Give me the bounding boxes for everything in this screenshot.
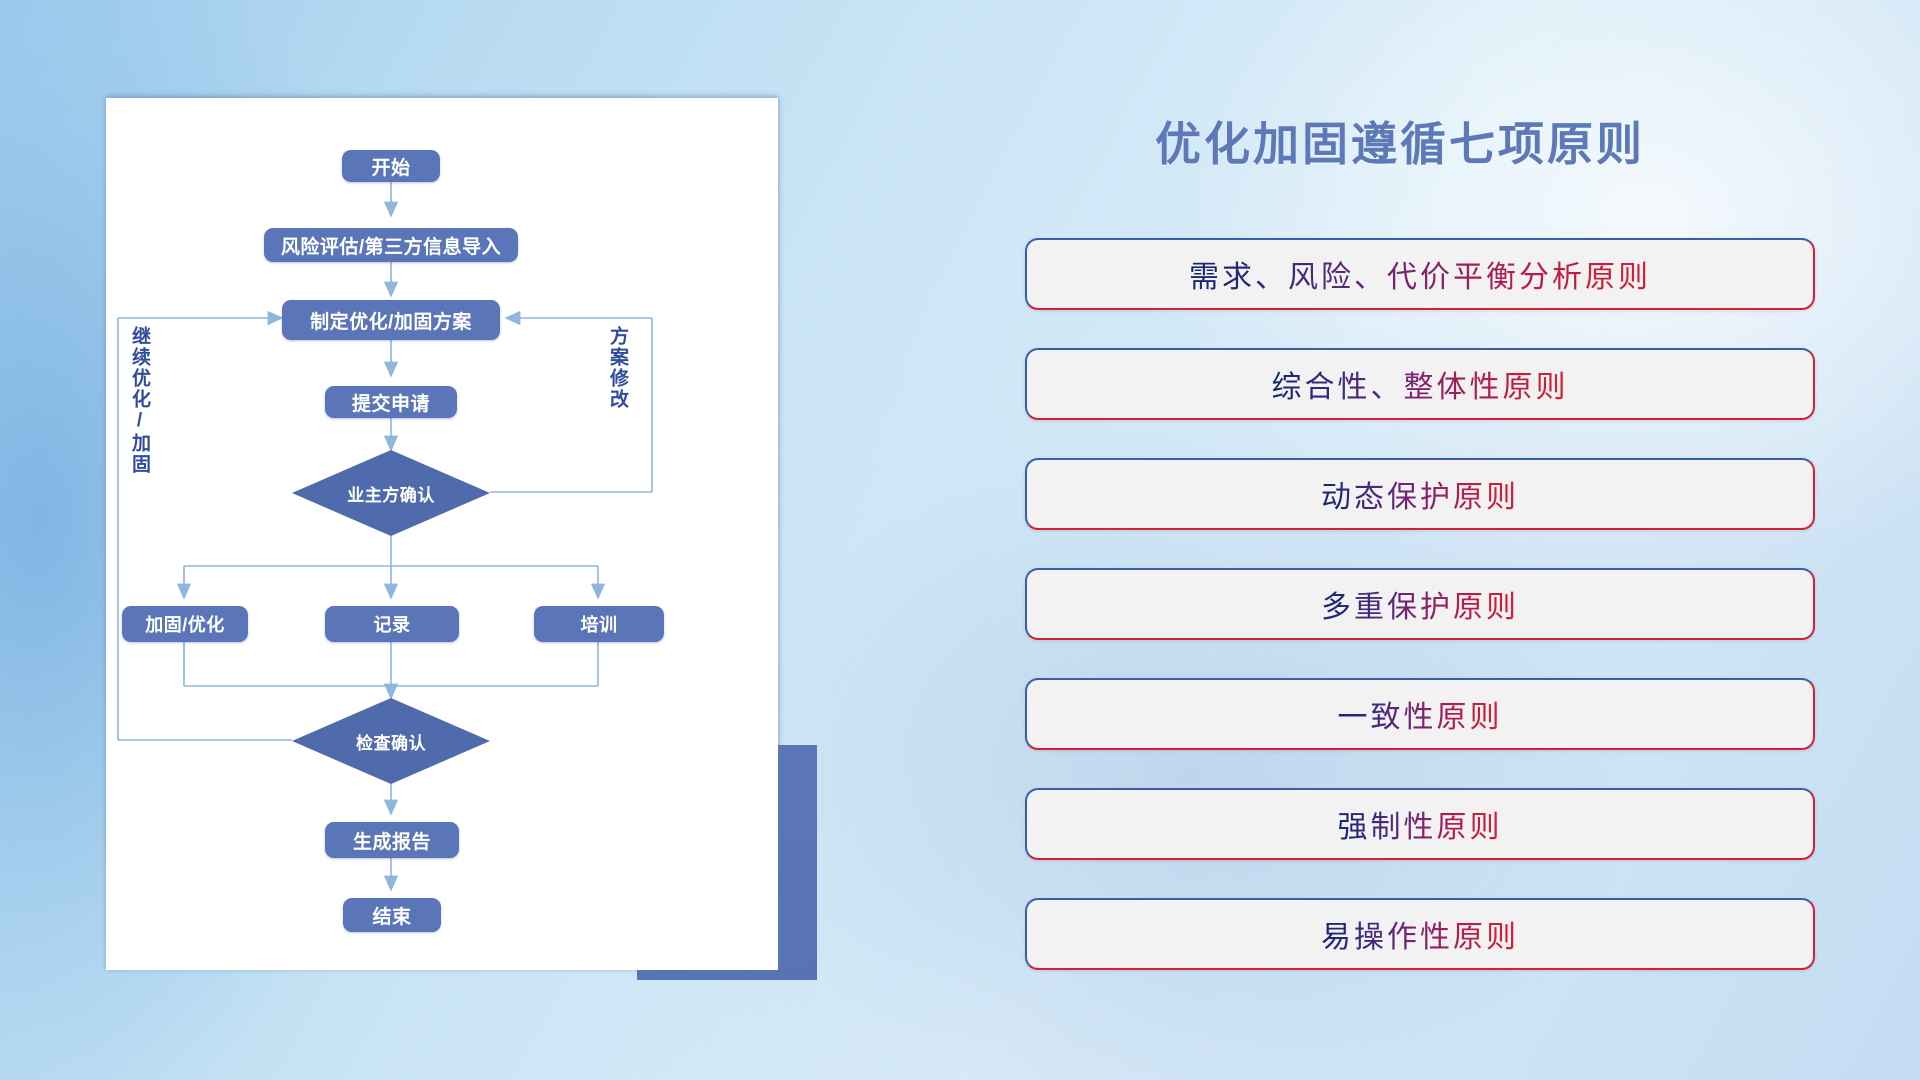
flow-node-label: 结束 (372, 902, 411, 929)
principle-label: 一致性原则 (1338, 692, 1503, 736)
principle-label: 需求、风险、代价平衡分析原则 (1189, 252, 1651, 296)
principle-item[interactable]: 需求、风险、代价平衡分析原则 (1025, 238, 1815, 310)
flow-node-training[interactable]: 培训 (534, 606, 664, 642)
principles-list: 需求、风险、代价平衡分析原则 综合性、整体性原则 动态保护原则 多重保护原则 一… (1025, 238, 1815, 970)
flow-node-record[interactable]: 记录 (325, 606, 459, 642)
flow-node-label: 培训 (581, 611, 618, 637)
flow-node-label: 开始 (371, 153, 410, 180)
principle-label: 多重保护原则 (1321, 582, 1519, 626)
flow-node-label: 记录 (374, 611, 411, 637)
principle-label: 动态保护原则 (1321, 472, 1519, 516)
flow-node-plan[interactable]: 制定优化/加固方案 (282, 300, 500, 340)
flow-node-submit-application[interactable]: 提交申请 (325, 386, 457, 418)
principle-item[interactable]: 综合性、整体性原则 (1025, 348, 1815, 420)
flow-decision-inspection-confirm[interactable]: 检查确认 (292, 698, 490, 784)
flow-node-label: 生成报告 (353, 827, 431, 854)
flowchart-card: 开始 风险评估/第三方信息导入 制定优化/加固方案 提交申请 业主方确认 加固/… (106, 98, 778, 970)
page-title: 优化加固遵循七项原则 (880, 108, 1920, 174)
principle-item[interactable]: 强制性原则 (1025, 788, 1815, 860)
flow-node-label: 制定优化/加固方案 (310, 307, 472, 334)
flow-node-label: 业主方确认 (292, 450, 490, 536)
flow-node-start[interactable]: 开始 (342, 150, 440, 182)
flow-node-label: 加固/优化 (145, 611, 225, 637)
flow-edge-label-plan-revision: 方案修改 (608, 326, 627, 410)
flowchart-panel: 开始 风险评估/第三方信息导入 制定优化/加固方案 提交申请 业主方确认 加固/… (0, 0, 880, 1080)
principle-item[interactable]: 一致性原则 (1025, 678, 1815, 750)
flow-edge-label-continue-optimize: 继续优化/加固 (130, 326, 149, 475)
principle-item[interactable]: 多重保护原则 (1025, 568, 1815, 640)
principle-label: 综合性、整体性原则 (1272, 362, 1569, 406)
principles-panel: 优化加固遵循七项原则 需求、风险、代价平衡分析原则 综合性、整体性原则 动态保护… (880, 0, 1920, 1080)
principle-item[interactable]: 易操作性原则 (1025, 898, 1815, 970)
flow-node-end[interactable]: 结束 (343, 898, 441, 932)
flow-node-generate-report[interactable]: 生成报告 (325, 822, 459, 858)
flow-node-label: 提交申请 (352, 389, 430, 416)
principle-label: 强制性原则 (1338, 802, 1503, 846)
flow-node-label: 风险评估/第三方信息导入 (281, 232, 501, 259)
flow-node-reinforce-optimize[interactable]: 加固/优化 (122, 606, 248, 642)
flow-node-risk-assessment[interactable]: 风险评估/第三方信息导入 (264, 228, 518, 262)
principle-label: 易操作性原则 (1321, 912, 1519, 956)
flow-decision-owner-confirm[interactable]: 业主方确认 (292, 450, 490, 536)
flow-node-label: 检查确认 (292, 698, 490, 784)
principle-item[interactable]: 动态保护原则 (1025, 458, 1815, 530)
